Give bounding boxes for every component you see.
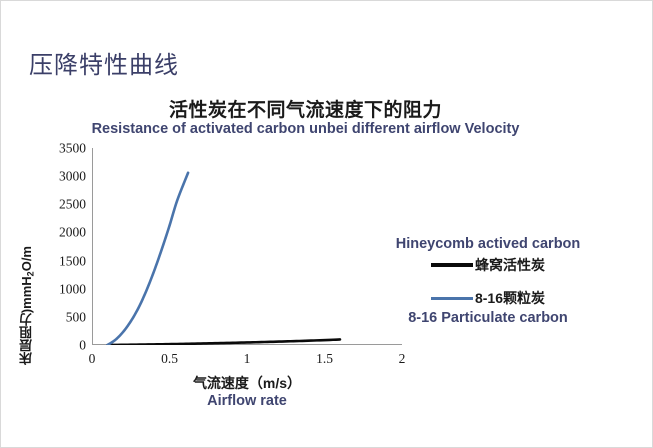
chart-legend: Hineycomb actived carbon 蜂窝活性炭 8-16颗粒炭 8… <box>373 235 603 329</box>
x-axis-tick-labels: 0 0.5 1 1.5 2 <box>92 351 402 371</box>
y-tick-1000: 1000 <box>39 282 86 296</box>
y-axis-tick-labels: 3500 3000 2500 2000 1500 1000 500 0 <box>39 148 86 345</box>
y-axis-title-subscript: 2 <box>26 271 36 276</box>
y-tick-2500: 2500 <box>39 198 86 212</box>
chart-subtitle-english: Resistance of activated carbon unbei dif… <box>0 121 632 137</box>
legend-header-english: Hineycomb actived carbon <box>373 235 603 255</box>
legend-label-honeycomb: 蜂窝活性炭 <box>475 256 545 275</box>
y-tick-1500: 1500 <box>39 254 86 268</box>
legend-swatch-black-line-icon <box>431 263 473 267</box>
y-tick-2000: 2000 <box>39 226 86 240</box>
y-tick-3500: 3500 <box>39 141 86 155</box>
legend-label-particulate: 8-16颗粒炭 <box>475 289 545 308</box>
chart-series-layer <box>92 148 402 345</box>
legend-footer-english: 8-16 Particulate carbon <box>373 309 603 329</box>
legend-item-particulate: 8-16颗粒炭 <box>373 289 603 308</box>
legend-item-honeycomb: 蜂窝活性炭 <box>373 256 603 275</box>
x-tick-1: 1 <box>244 351 251 367</box>
legend-spacer <box>373 275 603 288</box>
x-tick-2: 2 <box>399 351 406 367</box>
x-tick-0: 0 <box>89 351 96 367</box>
y-axis-title: 床层阻力)mmH2O/m <box>17 246 33 365</box>
y-axis-title-main: 床层阻力)mmH <box>19 276 34 365</box>
y-tick-500: 500 <box>39 310 86 324</box>
slide-canvas: 压降特性曲线 活性炭在不同气流速度下的阻力 Resistance of acti… <box>0 0 653 448</box>
x-tick-1-5: 1.5 <box>316 351 333 367</box>
chart-title-chinese: 活性炭在不同气流速度下的阻力 <box>0 95 632 122</box>
x-axis-title-chinese: 气流速度（m/s） <box>92 373 402 393</box>
page-title: 压降特性曲线 <box>29 45 179 80</box>
y-tick-0: 0 <box>39 338 86 352</box>
x-axis-title-english: Airflow rate <box>92 393 402 409</box>
y-tick-3000: 3000 <box>39 169 86 183</box>
legend-swatch-blue-line-icon <box>431 297 473 300</box>
chart-container: 活性炭在不同气流速度下的阻力 Resistance of activated c… <box>1 87 653 447</box>
x-tick-0-5: 0.5 <box>161 351 178 367</box>
series-line-honeycomb-activated-carbon <box>108 339 341 345</box>
series-line-particulate-carbon <box>108 173 189 345</box>
plot-area <box>92 148 402 345</box>
y-axis-title-tail: O/m <box>19 246 34 271</box>
